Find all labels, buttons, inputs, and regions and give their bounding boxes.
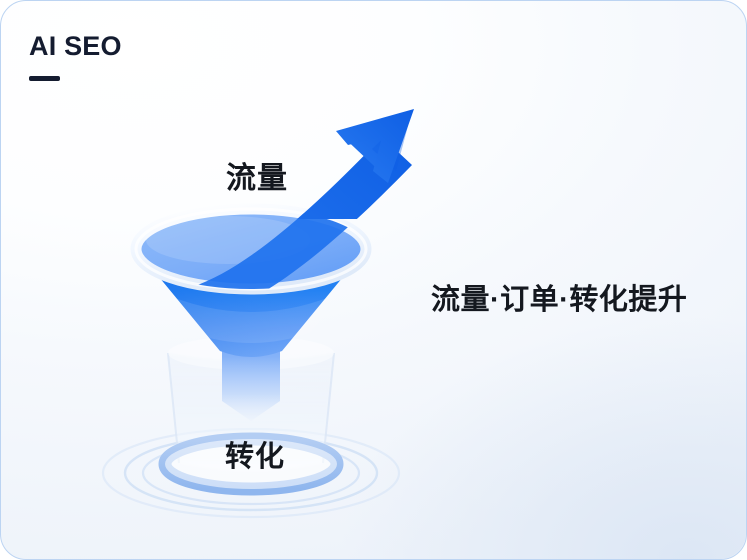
headline-text: 流量·订单·转化提升 — [431, 276, 687, 318]
label-traffic: 流量 — [226, 153, 288, 197]
title-underline-rule — [29, 76, 60, 81]
brand-title-block: AI SEO — [29, 33, 122, 81]
label-conversion: 转化 — [225, 433, 285, 475]
page-title: AI SEO — [29, 33, 122, 60]
slide-canvas: AI SEO — [0, 0, 747, 560]
